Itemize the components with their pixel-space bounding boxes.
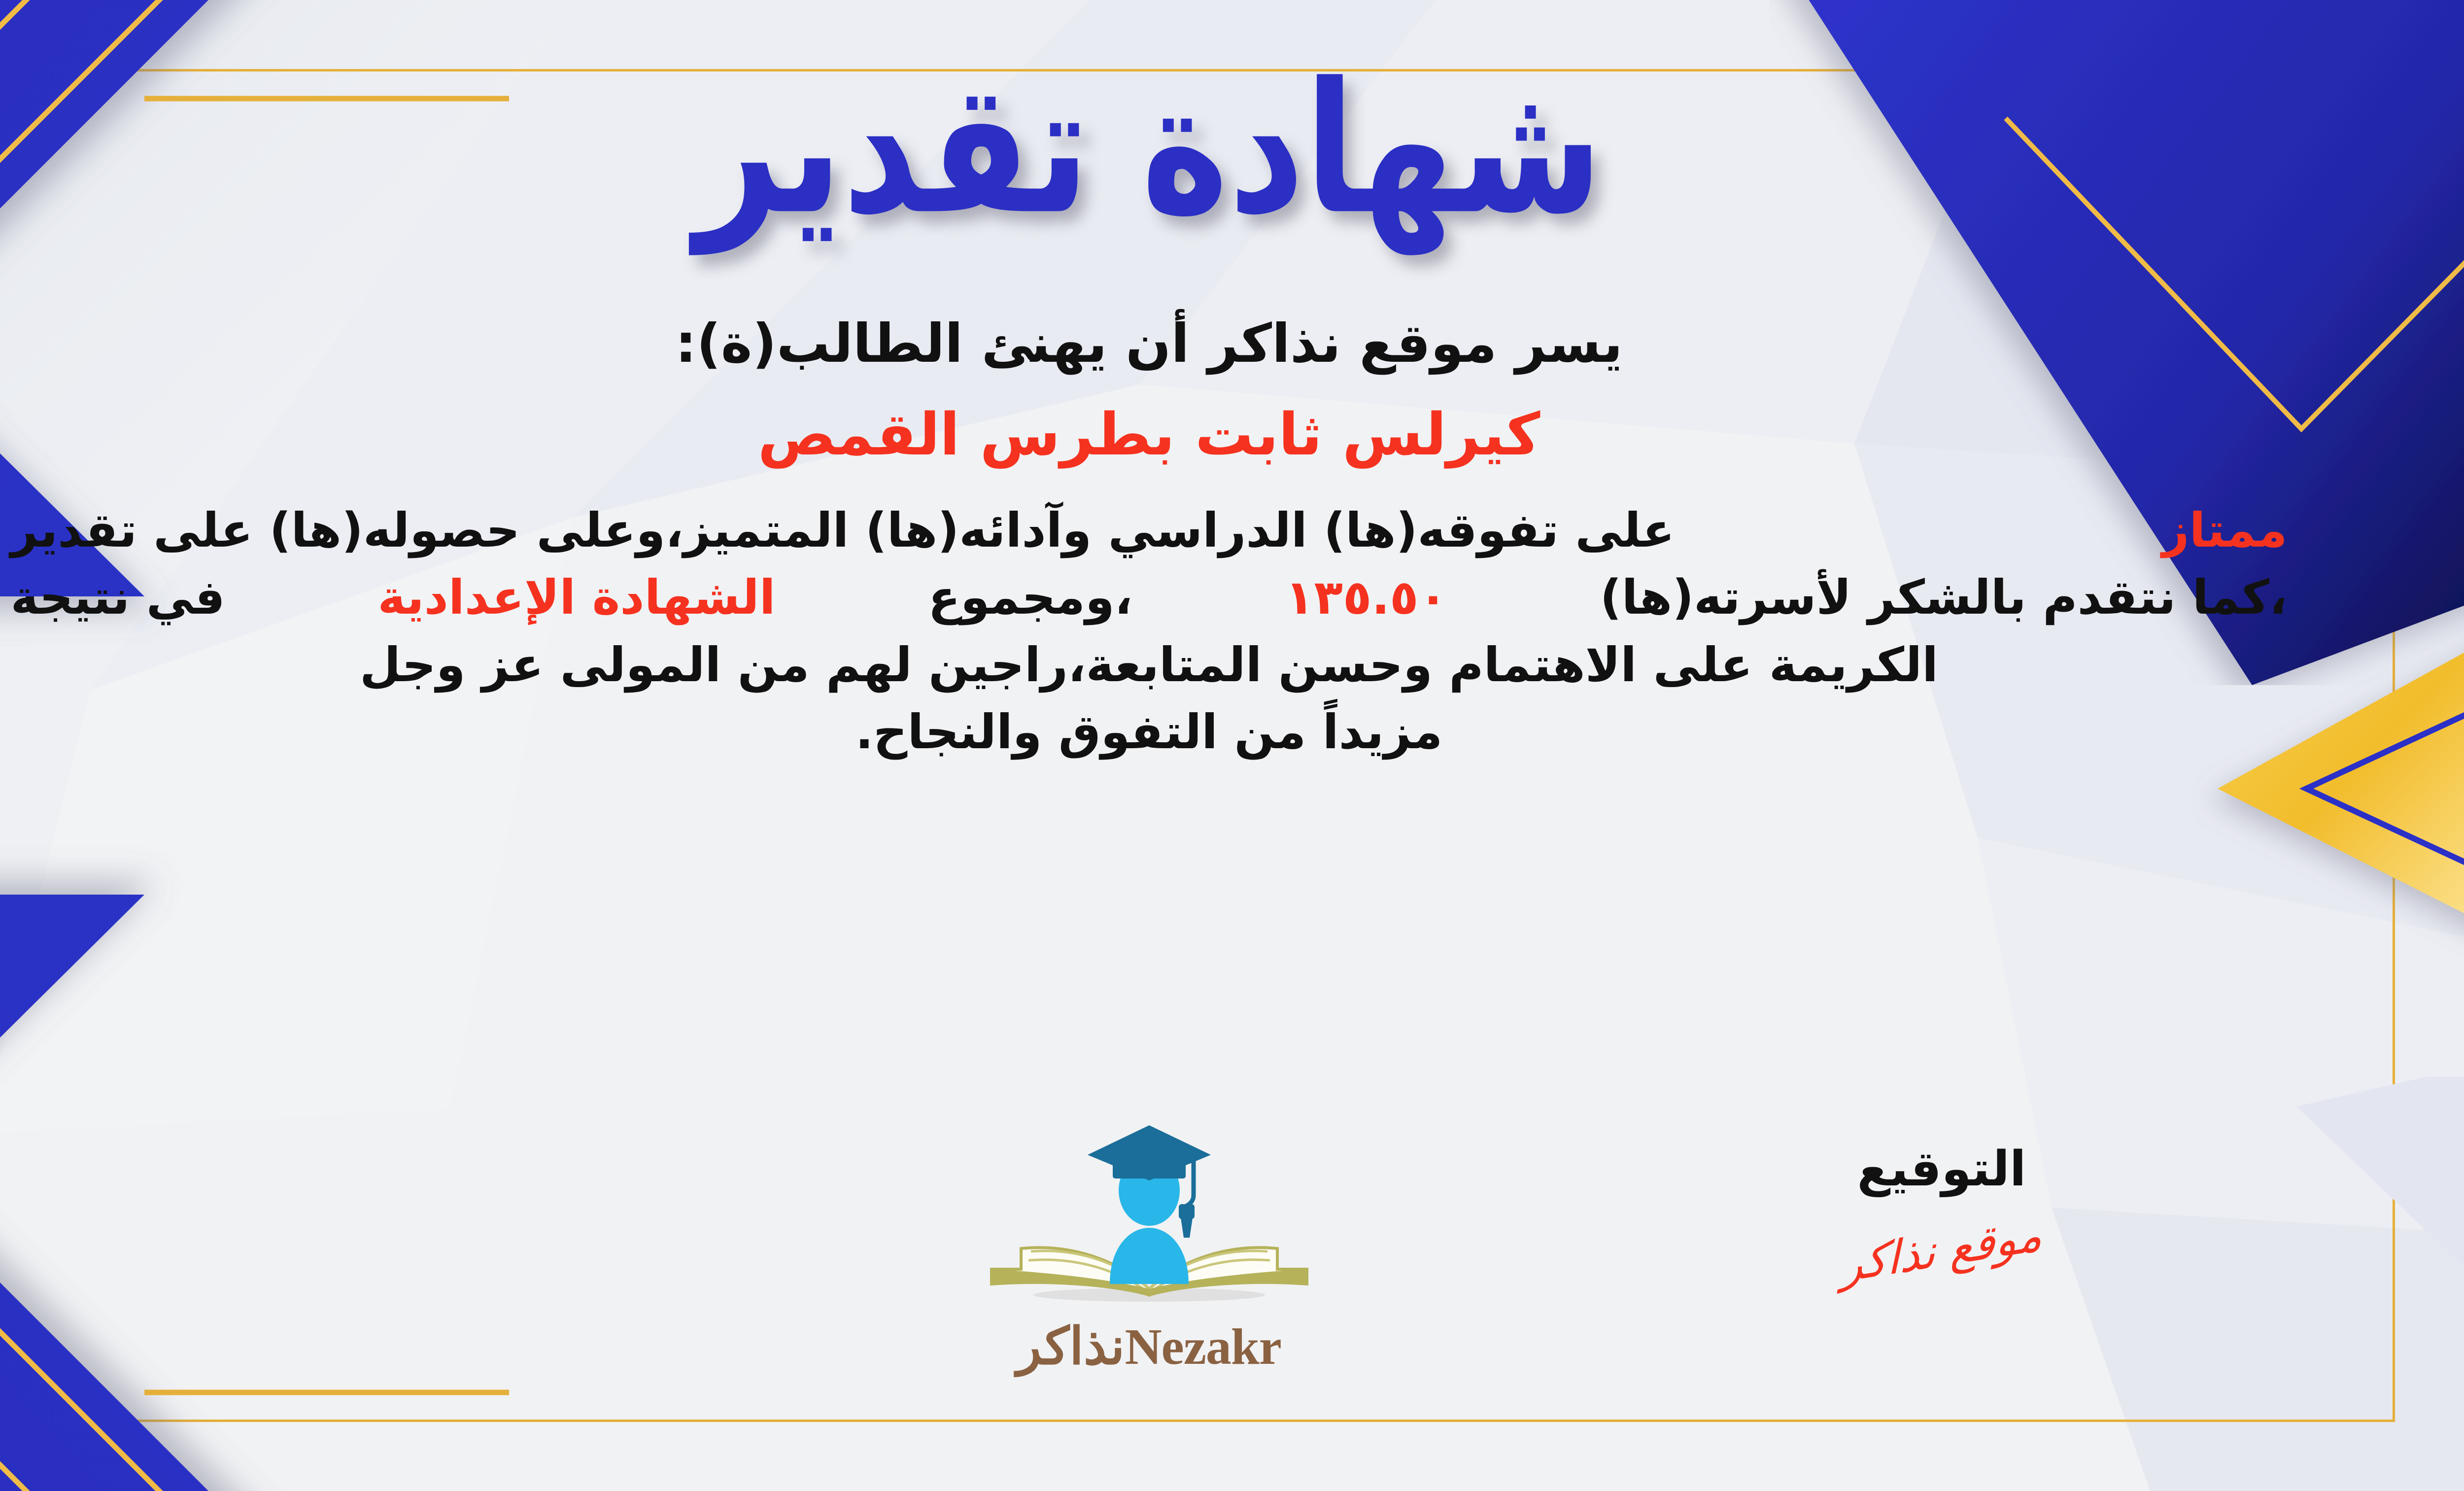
- logo-wordmark: Nezakrنذاكر: [927, 1316, 1371, 1376]
- logo-latin-text: Nezakr: [1125, 1318, 1281, 1375]
- certificate-footer: التوقيع موقع نذاكر: [0, 1121, 2464, 1397]
- exam-name: الشهادة الإعدادية: [377, 564, 775, 631]
- logo-arabic-text: نذاكر: [1017, 1316, 1125, 1376]
- body-paragraph: ممتاز على تفوقه(ها) الدراسي وآدائه(ها) ا…: [11, 497, 2288, 765]
- grade-value: ممتاز: [2162, 497, 2287, 564]
- brand-logo: Nezakrنذاكر: [927, 1121, 1371, 1376]
- total-score-value: ١٣٥.٥٠: [1285, 564, 1447, 631]
- signature-mark: موقع نذاكر: [1841, 1208, 2043, 1293]
- graduate-over-open-book-icon: [962, 1121, 1336, 1318]
- body-line-4: مزيداً من التفوق والنجاح.: [11, 698, 2288, 765]
- signature-label: التوقيع: [1784, 1141, 2099, 1197]
- body-line-2-suffix: ،كما نتقدم بالشكر لأسرته(ها): [1600, 564, 2288, 631]
- body-line-1-text: على تفوقه(ها) الدراسي وآدائه(ها) المتميز…: [11, 497, 1675, 564]
- body-line-3: الكريمة على الاهتمام وحسن المتابعة،راجين…: [11, 631, 2288, 698]
- student-name: كيرلس ثابت بطرس القمص: [758, 400, 1540, 468]
- total-score-label: ،ومجموع: [928, 564, 1132, 631]
- body-line-2: ،كما نتقدم بالشكر لأسرته(ها) ١٣٥.٥٠ ،ومج…: [11, 564, 2288, 631]
- body-line-1: ممتاز على تفوقه(ها) الدراسي وآدائه(ها) ا…: [11, 497, 2288, 564]
- certificate-title: شهادة تقدير: [695, 54, 1603, 243]
- body-line-2-prefix: في نتيجة: [11, 564, 225, 631]
- certificate-canvas: شهادة تقدير يسر موقع نذاكر أن يهنئ الطال…: [0, 0, 2464, 1491]
- signature-area: التوقيع موقع نذاكر: [1784, 1141, 2099, 1277]
- intro-line: يسر موقع نذاكر أن يهنئ الطالب(ة):: [675, 313, 1623, 375]
